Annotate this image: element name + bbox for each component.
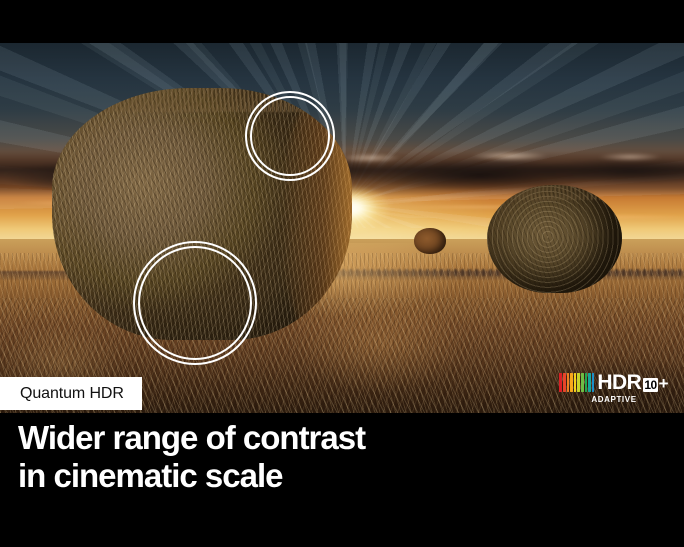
detail-circle-inner-ring — [138, 246, 252, 360]
headline-line-1: Wider range of contrast — [18, 419, 365, 457]
spectrum-bar — [577, 373, 580, 392]
spectrum-bar — [585, 373, 588, 392]
hdr-plus-sign: + — [659, 377, 669, 391]
hdr-promo-banner: HDR 10 + ADAPTIVE Quantum HDR Wider rang… — [0, 0, 684, 547]
hdr-adaptive-label: ADAPTIVE — [591, 395, 636, 404]
hdr-logo-row: HDR 10 + — [559, 370, 668, 394]
spectrum-bar — [559, 373, 562, 392]
detail-circle-upper — [245, 91, 335, 181]
spectrum-bar — [574, 373, 577, 392]
hdr-wordmark: HDR — [597, 373, 641, 392]
quantum-hdr-badge-label: Quantum HDR — [20, 385, 124, 403]
scene-photo: HDR 10 + ADAPTIVE — [0, 43, 684, 413]
headline: Wider range of contrast in cinematic sca… — [18, 419, 365, 495]
hay-bale-right — [487, 185, 622, 293]
spectrum-bar — [570, 373, 573, 392]
detail-circle-lower — [133, 241, 257, 365]
spectrum-bar — [581, 373, 584, 392]
hay-fringe — [487, 185, 622, 200]
color-spectrum-bars-icon — [559, 373, 595, 392]
hay-texture — [487, 185, 622, 293]
spectrum-bar — [588, 373, 591, 392]
spectrum-bar — [567, 373, 570, 392]
hay-bale-distant — [414, 228, 446, 254]
headline-line-2: in cinematic scale — [18, 457, 365, 495]
letterbox-top — [0, 0, 684, 43]
hdr10-plus-adaptive-logo: HDR 10 + ADAPTIVE — [556, 368, 672, 406]
quantum-hdr-badge: Quantum HDR — [0, 377, 142, 410]
detail-circle-inner-ring — [250, 96, 330, 176]
hdr-ten-badge: 10 — [643, 378, 658, 392]
spectrum-bar — [563, 373, 566, 392]
spectrum-bar — [592, 373, 595, 392]
